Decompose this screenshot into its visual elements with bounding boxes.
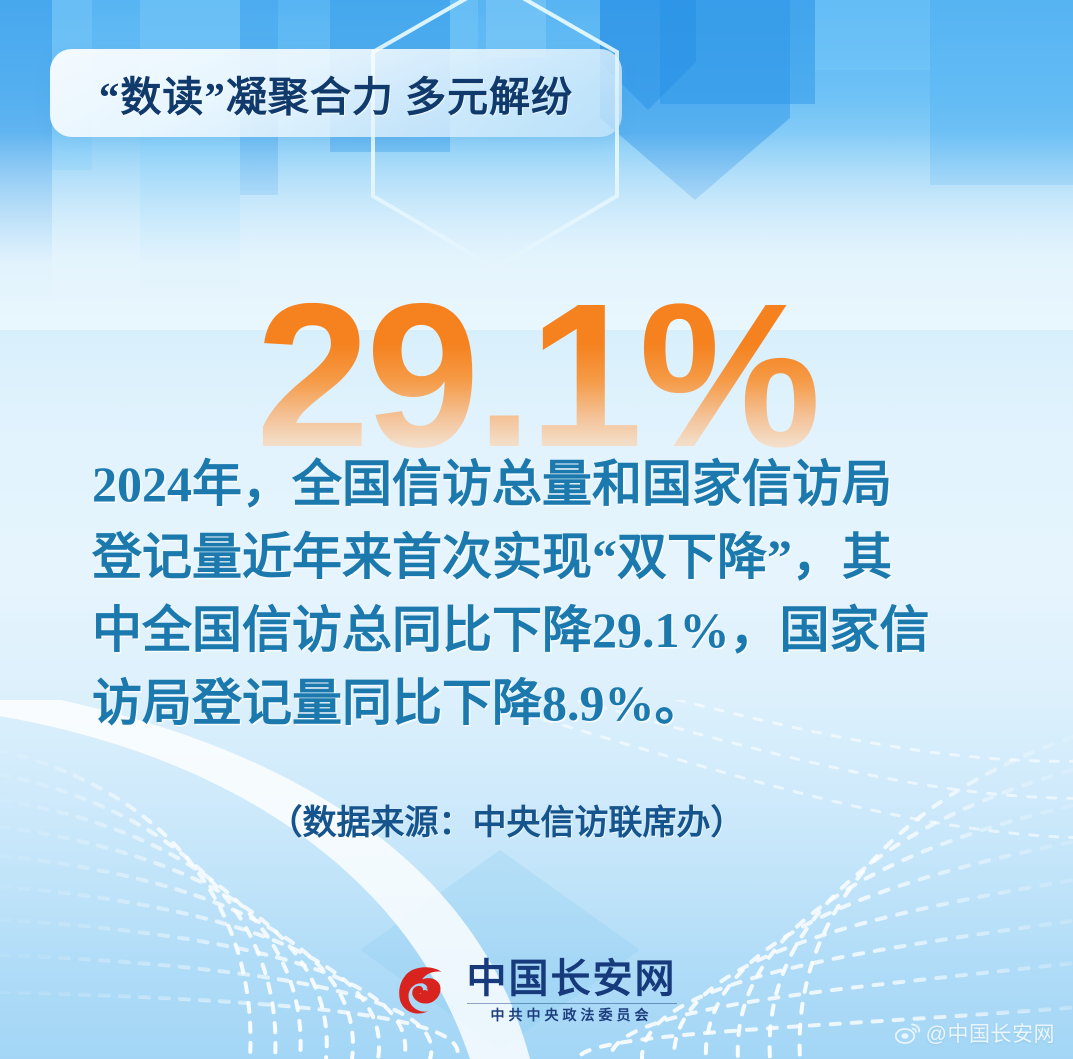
body-line: 2024年，全国信访总量和国家信访局 [92, 448, 982, 521]
page-title: “数读”凝聚合力 多元解纷 [99, 63, 573, 123]
watermark-text: @中国长安网 [926, 1018, 1055, 1048]
logo-subtitle: 中共中央政法委员会 [467, 1003, 677, 1023]
decor-square-block-5 [815, 0, 930, 70]
decor-vertical-bar-3 [140, 0, 240, 290]
decor-vertical-bar-1 [0, 0, 52, 300]
logo-name: 中国长安网 [467, 958, 677, 1000]
decor-hexagon-outline [365, 0, 625, 276]
data-source-note: （数据来源：中央信访联席办） [0, 795, 1073, 844]
title-banner: “数读”凝聚合力 多元解纷 [50, 49, 622, 137]
body-line: 中全国信访总同比下降29.1%，国家信 [92, 594, 982, 667]
site-logo: 中国长安网 中共中央政法委员会 [0, 958, 1073, 1023]
decor-square-block-3 [660, 0, 815, 104]
body-line: 访局登记量同比下降8.9%。 [92, 667, 982, 740]
highlight-percentage: 29.1% [256, 276, 817, 476]
decor-pentagon-arrow [600, 0, 790, 200]
weibo-eye-icon [895, 1022, 921, 1044]
changan-swirl-icon [397, 963, 455, 1019]
logo-text-column: 中国长安网 中共中央政法委员会 [467, 958, 677, 1023]
body-line: 登记量近年来首次实现“双下降”，其 [92, 521, 982, 594]
weibo-watermark: @中国长安网 [895, 1018, 1055, 1048]
body-paragraph: 2024年，全国信访总量和国家信访局 登记量近年来首次实现“双下降”，其 中全国… [92, 448, 982, 740]
decor-square-block-4 [930, 0, 1073, 185]
infographic-poster: “数读”凝聚合力 多元解纷 29.1% 2024年，全国信访总量和国家信访局 登… [0, 0, 1073, 1059]
highlight-number-container: 29.1% [0, 276, 1073, 476]
